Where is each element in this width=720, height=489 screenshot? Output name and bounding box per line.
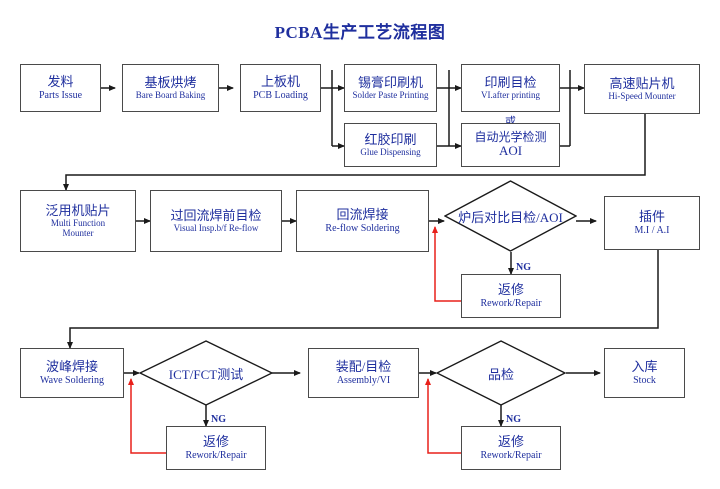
node-ict-fct-test[interactable]: ICT/FCT测试 <box>139 340 273 406</box>
node-solder-paste-printing-cn: 锡膏印刷机 <box>358 76 423 91</box>
node-stock-cn: 入库 <box>631 360 657 375</box>
node-bare-board-baking[interactable]: 基板烘烤 Bare Board Baking <box>122 64 219 112</box>
node-hi-speed-mounter[interactable]: 高速贴片机 Hi-Speed Mounter <box>584 64 700 114</box>
node-parts-issue-en: Parts Issue <box>39 90 82 101</box>
node-bare-board-baking-en: Bare Board Baking <box>136 90 205 100</box>
node-multi-function-mounter-cn: 泛用机贴片 <box>45 204 110 219</box>
node-reflow-soldering[interactable]: 回流焊接 Re-flow Soldering <box>296 190 429 252</box>
node-aoi-optical-inspection[interactable]: 自动光学检测 AOI <box>461 123 560 167</box>
node-parts-issue[interactable]: 发料 Parts Issue <box>20 64 101 112</box>
node-visual-insp-before-reflow-cn: 过回流焊前目检 <box>170 209 261 224</box>
node-parts-issue-cn: 发料 <box>47 75 73 90</box>
ng-label-reflow: NG <box>516 262 531 273</box>
node-rework-after-reflow-en: Rework/Repair <box>480 298 541 309</box>
node-rework-after-reflow-cn: 返修 <box>498 283 524 298</box>
node-stock-en: Stock <box>633 375 656 386</box>
node-wave-soldering[interactable]: 波峰焊接 Wave Soldering <box>20 348 124 398</box>
node-vi-after-printing-en: VI.after printing <box>481 90 540 100</box>
node-visual-insp-before-reflow[interactable]: 过回流焊前目检 Visual Insp.b/f Re-flow <box>150 190 282 252</box>
node-aoi-optical-inspection-cn: 自动光学检测 <box>474 131 546 144</box>
node-multi-function-mounter-en2: Mounter <box>63 228 94 238</box>
node-mi-ai-insertion[interactable]: 插件 M.I / A.I <box>604 196 700 250</box>
ng-label-qc: NG <box>506 414 521 425</box>
node-reflow-soldering-cn: 回流焊接 <box>336 208 388 223</box>
node-wave-soldering-en: Wave Soldering <box>40 375 104 386</box>
node-post-oven-aoi-label: 炉后对比目检/AOI <box>458 207 563 226</box>
ng-label-ict: NG <box>211 414 226 425</box>
node-assembly-vi-en: Assembly/VI <box>337 375 390 386</box>
node-pcb-loading-cn: 上板机 <box>261 75 300 90</box>
node-stock[interactable]: 入库 Stock <box>604 348 685 398</box>
node-rework-after-ict-cn: 返修 <box>203 435 229 450</box>
node-multi-function-mounter-en: Multi Function <box>51 218 105 228</box>
node-multi-function-mounter[interactable]: 泛用机贴片 Multi Function Mounter <box>20 190 136 252</box>
node-quality-check-label: 品检 <box>488 364 514 383</box>
node-assembly-vi-cn: 装配/目检 <box>336 360 392 375</box>
node-vi-after-printing[interactable]: 印刷目检 VI.after printing <box>461 64 560 112</box>
node-solder-paste-printing[interactable]: 锡膏印刷机 Solder Paste Printing <box>344 64 437 112</box>
node-glue-dispensing-cn: 红胶印刷 <box>364 133 416 148</box>
node-rework-after-ict-en: Rework/Repair <box>185 450 246 461</box>
node-wave-soldering-cn: 波峰焊接 <box>46 360 98 375</box>
node-pcb-loading[interactable]: 上板机 PCB Loading <box>240 64 321 112</box>
node-post-oven-aoi[interactable]: 炉后对比目检/AOI <box>444 180 577 252</box>
flowchart-canvas: PCBA生产工艺流程图 <box>0 0 720 489</box>
node-vi-after-printing-cn: 印刷目检 <box>484 76 536 91</box>
node-solder-paste-printing-en: Solder Paste Printing <box>353 90 429 100</box>
node-rework-after-reflow[interactable]: 返修 Rework/Repair <box>461 274 561 318</box>
node-glue-dispensing-en: Glue Dispensing <box>360 147 420 157</box>
node-rework-after-ict[interactable]: 返修 Rework/Repair <box>166 426 266 470</box>
node-rework-after-qc-en: Rework/Repair <box>480 450 541 461</box>
node-quality-check[interactable]: 品检 <box>436 340 566 406</box>
node-visual-insp-before-reflow-en: Visual Insp.b/f Re-flow <box>174 223 259 233</box>
node-hi-speed-mounter-en: Hi-Speed Mounter <box>608 91 675 101</box>
node-bare-board-baking-cn: 基板烘烤 <box>144 76 196 91</box>
node-rework-after-qc-cn: 返修 <box>498 435 524 450</box>
node-assembly-vi[interactable]: 装配/目检 Assembly/VI <box>308 348 419 398</box>
node-ict-fct-test-label: ICT/FCT测试 <box>169 364 243 383</box>
node-hi-speed-mounter-cn: 高速贴片机 <box>609 77 674 92</box>
node-rework-after-qc[interactable]: 返修 Rework/Repair <box>461 426 561 470</box>
node-glue-dispensing[interactable]: 红胶印刷 Glue Dispensing <box>344 123 437 167</box>
node-pcb-loading-en: PCB Loading <box>253 90 308 101</box>
node-reflow-soldering-en: Re-flow Soldering <box>325 223 399 234</box>
node-aoi-optical-inspection-en: AOI <box>499 144 522 159</box>
node-mi-ai-insertion-cn: 插件 <box>639 210 665 225</box>
node-mi-ai-insertion-en: M.I / A.I <box>635 225 670 236</box>
page-title: PCBA生产工艺流程图 <box>0 18 720 43</box>
